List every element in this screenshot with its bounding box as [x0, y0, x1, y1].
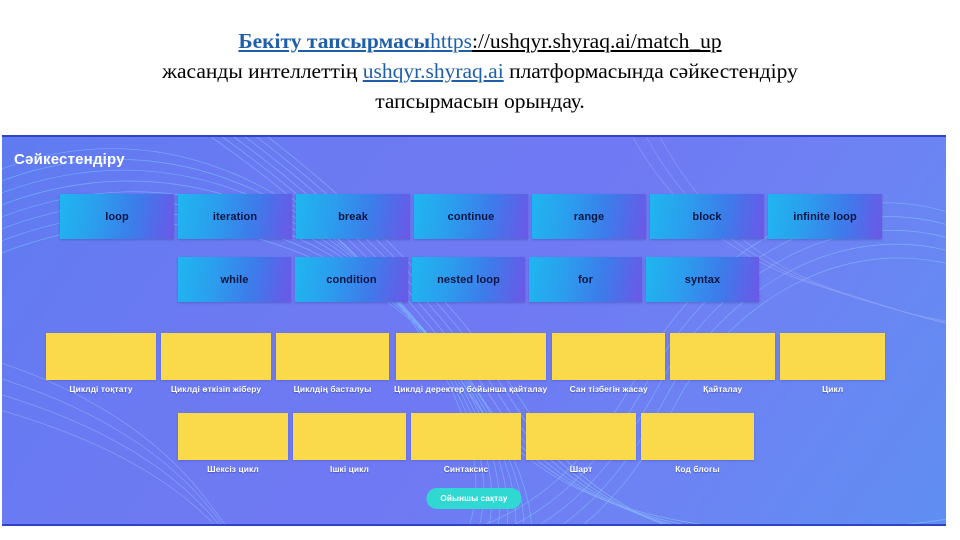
answer-slot-group: Синтаксис	[411, 413, 521, 474]
answer-slot-group: Сан тізбегін жасау	[552, 333, 665, 394]
answer-slot-group: Циклдің басталуы	[276, 333, 389, 394]
answer-drop-slot[interactable]	[178, 413, 288, 460]
header-line-2-before: жасанды интеллеттің	[162, 59, 363, 83]
term-card[interactable]: continue	[414, 194, 528, 239]
answer-slot-group: Код блогы	[641, 413, 754, 474]
answer-slot-label: Синтаксис	[444, 464, 488, 474]
platform-url-link[interactable]: ushqyr.shyraq.ai	[363, 59, 504, 83]
answer-slot-group: Ішкі цикл	[293, 413, 406, 474]
header-line-1: Бекіту тапсырмасыhttps://ushqyr.shyraq.a…	[14, 26, 946, 56]
answer-slot-group: Циклді тоқтату	[46, 333, 156, 394]
answer-slot-label: Шарт	[570, 464, 593, 474]
answer-drop-slot[interactable]	[396, 333, 546, 380]
term-card[interactable]: block	[650, 194, 764, 239]
term-card[interactable]: for	[529, 257, 642, 302]
answer-slot-group: Қайталау	[670, 333, 775, 394]
answer-drop-slot[interactable]	[46, 333, 156, 380]
answer-drop-slot[interactable]	[780, 333, 885, 380]
answer-drop-slot[interactable]	[670, 333, 775, 380]
answer-slot-label: Циклді өткізіп жіберу	[171, 384, 261, 394]
answer-slot-group: Шарт	[526, 413, 636, 474]
url-scheme-link[interactable]: https	[430, 29, 472, 53]
term-card-row-1: loop iteration break continue range bloc…	[60, 194, 886, 239]
header-line-2: жасанды интеллеттің ushqyr.shyraq.ai пла…	[14, 56, 946, 86]
term-card[interactable]: loop	[60, 194, 174, 239]
header-line-2-after: платформасында сәйкестендіру	[504, 59, 798, 83]
answer-drop-slot[interactable]	[526, 413, 636, 460]
term-card[interactable]: syntax	[646, 257, 759, 302]
answer-drop-slot[interactable]	[276, 333, 389, 380]
answer-slot-label: Код блогы	[675, 464, 720, 474]
answer-drop-slot[interactable]	[552, 333, 665, 380]
answer-slot-row-1: Циклді тоқтату Циклді өткізіп жіберу Цик…	[46, 333, 890, 394]
answer-slot-label: Циклдің басталуы	[294, 384, 372, 394]
answer-slot-label: Ішкі цикл	[330, 464, 369, 474]
term-card[interactable]: break	[296, 194, 410, 239]
answer-slot-label: Қайталау	[703, 384, 742, 394]
activity-title: Сәйкестендіру	[14, 151, 125, 168]
answer-slot-group: Циклді өткізіп жіберу	[161, 333, 271, 394]
answer-slot-label: Циклді тоқтату	[69, 384, 132, 394]
term-card[interactable]: iteration	[178, 194, 292, 239]
answer-slot-group: Циклді деректер бойынша қайталау	[394, 333, 547, 394]
answer-slot-label: Цикл	[822, 384, 843, 394]
term-card[interactable]: while	[178, 257, 291, 302]
answer-drop-slot[interactable]	[161, 333, 271, 380]
answer-slot-group: Цикл	[780, 333, 885, 394]
task-description-header: Бекіту тапсырмасыhttps://ushqyr.shyraq.a…	[0, 0, 960, 135]
url-rest-text: ://ushqyr.shyraq.ai/match_up	[472, 29, 722, 53]
term-card[interactable]: range	[532, 194, 646, 239]
slide-container: Сәйкестендіру loop iteration break conti…	[0, 135, 960, 540]
save-player-button[interactable]: Ойыншы сақтау	[426, 488, 521, 509]
answer-slot-label: Сан тізбегін жасау	[570, 384, 648, 394]
term-card[interactable]: nested loop	[412, 257, 525, 302]
task-title-link[interactable]: Бекіту тапсырмасы	[238, 29, 430, 53]
term-card-row-2: while condition nested loop for syntax	[178, 257, 763, 302]
answer-slot-label: Циклді деректер бойынша қайталау	[394, 384, 547, 394]
answer-drop-slot[interactable]	[411, 413, 521, 460]
answer-drop-slot[interactable]	[641, 413, 754, 460]
answer-drop-slot[interactable]	[293, 413, 406, 460]
answer-slot-label: Шексіз цикл	[207, 464, 259, 474]
answer-slot-group: Шексіз цикл	[178, 413, 288, 474]
term-card[interactable]: condition	[295, 257, 408, 302]
term-card[interactable]: infinite loop	[768, 194, 882, 239]
answer-slot-row-2: Шексіз цикл Ішкі цикл Синтаксис Шарт Код…	[178, 413, 759, 474]
match-up-activity-screenshot: Сәйкестендіру loop iteration break conti…	[2, 135, 946, 526]
header-line-3: тапсырмасын орындау.	[14, 86, 946, 116]
